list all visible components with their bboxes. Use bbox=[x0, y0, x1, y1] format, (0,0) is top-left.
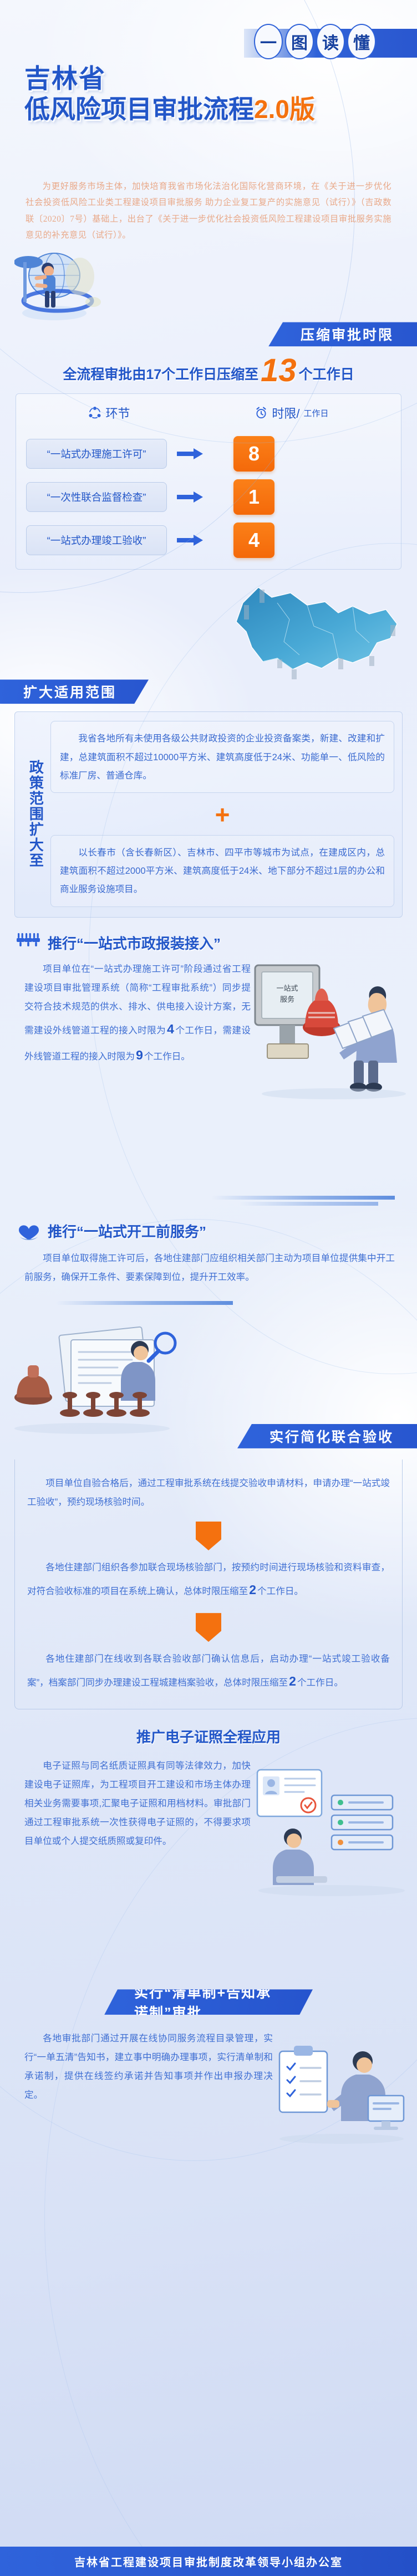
compress-headline-prefix: 全流程审批由17个工作日压缩至 bbox=[63, 367, 258, 382]
column-header-limit: 时限/工作日 bbox=[255, 404, 328, 422]
divider-bar bbox=[22, 1196, 395, 1206]
jilin-province-map bbox=[224, 581, 401, 686]
municipal-paragraph: 项目单位在“一站式办理施工许可”阶段通过省工程建设项目审批管理系统（简称“工程审… bbox=[24, 960, 251, 1068]
commitment-banner-wrap: 实行“清单制+告知承诺制”审批 bbox=[0, 1989, 417, 2019]
globe-person-illustration bbox=[14, 243, 131, 326]
compress-banner-wrap: 压缩审批时限 bbox=[0, 322, 417, 350]
clerk-at-desk-figure bbox=[273, 1829, 327, 1885]
kiosk-clerk-illustration: 一站式 服务 bbox=[251, 962, 411, 1106]
checklist-clerk-illustration bbox=[275, 2029, 408, 2151]
municipal-para-part3: 个工作日。 bbox=[144, 1051, 190, 1062]
acceptance-banner-wrap: 实行简化联合验收 bbox=[0, 1424, 417, 1452]
acceptance-paragraph-1: 项目单位自验合格后，通过工程审批系统在线提交验收申请材料，申请办理“一站式竣工验… bbox=[27, 1474, 390, 1512]
stamp-row bbox=[14, 1365, 150, 1417]
arrow-right-icon bbox=[172, 534, 208, 546]
alarm-clock-icon bbox=[255, 406, 268, 419]
acceptance-p2-prefix: 各地住建部门组织各参加联合现场核验部门，按预约时间进行现场核验和资料审查，对符合… bbox=[27, 1562, 390, 1596]
stamps-documents-illustration bbox=[9, 1314, 197, 1442]
compress-headline: 全流程审批由17个工作日压缩至13个工作日 bbox=[0, 360, 417, 383]
stage-label: “一站式办理竣工验收” bbox=[26, 525, 167, 555]
footer-bar: 吉林省工程建设项目审批制度改革领导小组办公室 bbox=[0, 2547, 417, 2576]
prestart-paragraph: 项目单位取得施工许可后，各地住建部门应组织相关部门主动为项目单位提供集中开工前服… bbox=[24, 1249, 395, 1287]
compress-banner: 压缩审批时限 bbox=[268, 322, 417, 346]
table-row: “一站式办理施工许可” 8 bbox=[26, 436, 391, 472]
title-line-province: 吉林省 bbox=[24, 65, 315, 91]
acceptance-paragraph-3: 各地住建部门在线收到各联合验收部门确认信息后，启动办理“一站式竣工验收备案”，档… bbox=[27, 1650, 390, 1694]
scope-card: 政策范围扩大至 我省各地所有未使用各级公共财政投资的企业投资备案类，新建、改建和… bbox=[14, 711, 403, 917]
section-title-municipal-label: 推行“一站式市政报装接入” bbox=[48, 933, 221, 953]
person-with-magnifier bbox=[121, 1333, 175, 1401]
section-title-prestart: 推行“一站式开工前服务” bbox=[17, 1220, 417, 1242]
scope-body: 我省各地所有未使用各级公共财政投资的企业投资备案类，新建、改建和扩建，总建筑面积… bbox=[50, 721, 394, 907]
read-at-a-glance-badge: 一 图 读 懂 bbox=[244, 29, 417, 58]
plugs-icon bbox=[17, 932, 41, 954]
server-rack-icon bbox=[332, 1795, 393, 1850]
section-title-ecert: 推广电子证照全程应用 bbox=[0, 1726, 417, 1747]
column-header-limit-label: 时限/ bbox=[272, 404, 299, 422]
acceptance-p3-suffix: 个工作日。 bbox=[297, 1677, 343, 1688]
stage-label: “一站式办理施工许可” bbox=[26, 439, 167, 469]
nodes-icon bbox=[88, 406, 101, 419]
server-certificate-illustration bbox=[254, 1762, 409, 1901]
acceptance-paragraph-2: 各地住建部门组织各参加联合现场核验部门，按预约时间进行现场核验和资料审查，对符合… bbox=[27, 1558, 390, 1603]
scope-banner-wrap: 扩大适用范围 bbox=[0, 679, 417, 707]
scope-box-1: 我省各地所有未使用各级公共财政投资的企业投资备案类，新建、改建和扩建，总建筑面积… bbox=[50, 721, 394, 793]
handshake-heart-icon bbox=[17, 1220, 41, 1242]
acceptance-p2-num: 2 bbox=[248, 1583, 257, 1597]
compress-headline-number: 13 bbox=[258, 352, 299, 388]
hand-stamp-icon bbox=[303, 989, 340, 1036]
commitment-banner: 实行“清单制+告知承诺制”审批 bbox=[104, 1989, 313, 2015]
column-header-stage-label: 环节 bbox=[105, 404, 130, 422]
page-header: 一 图 读 懂 吉林省 低风险项目审批流程2.0版 bbox=[0, 0, 417, 166]
clerk-figure bbox=[339, 986, 397, 1092]
days-value: 1 bbox=[233, 479, 274, 515]
acceptance-card: 项目单位自验合格后，通过工程审批系统在线提交验收申请材料，申请办理“一站式竣工验… bbox=[14, 1459, 403, 1709]
commitment-paragraph: 各地审批部门通过开展在线协同服务流程目录管理，实行“一单五清”告知书，建立事中明… bbox=[24, 2029, 273, 2104]
kiosk-screen-line2: 服务 bbox=[280, 995, 294, 1003]
clerk-figure bbox=[327, 2051, 385, 2121]
column-header-stage: 环节 bbox=[88, 404, 130, 422]
certificate-card bbox=[257, 1770, 322, 1816]
table-header-row: 环节 时限/工作日 bbox=[26, 402, 391, 428]
arrow-right-icon bbox=[172, 491, 208, 503]
documents-icon bbox=[334, 1010, 393, 1048]
days-value: 4 bbox=[233, 523, 274, 558]
badge-char-1: 一 bbox=[254, 24, 283, 59]
acceptance-p3-num: 2 bbox=[288, 1674, 297, 1688]
days-value: 8 bbox=[233, 436, 274, 472]
municipal-num-1: 4 bbox=[166, 1022, 175, 1036]
compress-headline-suffix: 个工作日 bbox=[299, 367, 354, 382]
title-line-main: 低风险项目审批流程2.0版 bbox=[24, 96, 315, 122]
column-header-limit-sub: 工作日 bbox=[304, 407, 329, 419]
table-row: “一次性联合监督检查” 1 bbox=[26, 479, 391, 515]
arrow-right-icon bbox=[172, 448, 208, 460]
section-title-prestart-label: 推行“一站式开工前服务” bbox=[48, 1221, 206, 1241]
plus-icon: + bbox=[50, 793, 394, 835]
table-row: “一站式办理竣工验收” 4 bbox=[26, 523, 391, 558]
acceptance-banner: 实行简化联合验收 bbox=[237, 1424, 417, 1448]
title-main-text: 低风险项目审批流程 bbox=[24, 95, 254, 124]
badge-char-3: 读 bbox=[316, 24, 345, 59]
page-title: 吉林省 低风险项目审批流程2.0版 bbox=[24, 65, 315, 122]
chevron-down-icon bbox=[196, 1613, 221, 1642]
badge-char-4: 懂 bbox=[347, 24, 376, 59]
compress-illustration-area bbox=[0, 247, 417, 312]
badge-char-2: 图 bbox=[285, 24, 314, 59]
kiosk-screen-line1: 一站式 bbox=[276, 984, 298, 992]
scope-banner: 扩大适用范围 bbox=[0, 679, 149, 704]
section-title-municipal: 推行“一站式市政报装接入” bbox=[17, 932, 417, 954]
acceptance-p2-suffix: 个工作日。 bbox=[257, 1586, 303, 1596]
infographic-page: 一 图 读 懂 吉林省 低风险项目审批流程2.0版 为更好服务市场主体，加快培育… bbox=[0, 0, 417, 2576]
chevron-down-icon bbox=[196, 1522, 221, 1550]
title-version: 2.0版 bbox=[254, 95, 315, 124]
divider-bar bbox=[22, 1301, 395, 1311]
approval-stage-table: 环节 时限/工作日 “一站式办理施工许可” 8 “一次性联合监督检查” bbox=[16, 393, 401, 570]
scope-side-label: 政策范围扩大至 bbox=[21, 721, 50, 907]
scope-box-2: 以长春市（含长春新区）、吉林市、四平市等城市为试点，在建成区内，总建筑面积不超过… bbox=[50, 835, 394, 907]
intro-paragraph: 为更好服务市场主体，加快培育我省市场化法治化国际化营商环境，在《关于进一步优化社… bbox=[26, 178, 391, 243]
municipal-num-2: 9 bbox=[135, 1048, 144, 1062]
ecert-paragraph: 电子证照与同名纸质证照具有同等法律效力，加快建设电子证照库，为工程项目开工建设和… bbox=[24, 1756, 251, 1851]
monitor-icon bbox=[368, 2096, 404, 2130]
stage-label: “一次性联合监督检查” bbox=[26, 482, 167, 512]
clipboard-icon bbox=[279, 2046, 327, 2112]
